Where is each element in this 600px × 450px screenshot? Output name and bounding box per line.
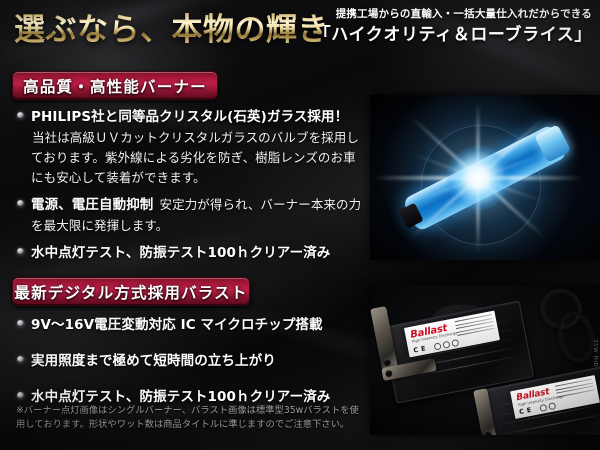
bullet-dot-icon	[17, 200, 24, 207]
ballast-scene: S Ballast High Intensity Disc	[370, 285, 600, 435]
list-item-heading: 水中点灯テスト、防振テスト100ｈクリアー済み	[31, 245, 330, 261]
quality-price-tagline: 「ハイクオリティ＆ローブライス」	[314, 23, 592, 48]
list-item-text: 9V〜16V電圧変動対応 IC マイクロチップ搭載	[31, 314, 365, 335]
section-banner-ballast: 最新デジタル方式採用バラスト	[12, 277, 250, 306]
list-item: 実用照度まで極めて短時間の立ち上がり	[13, 350, 365, 371]
list-item-text: 電源、電圧自動抑制 安定力が得られ、バーナー本来の力を最大限に発揮します。	[31, 194, 365, 235]
certification-marks	[539, 402, 556, 412]
footnote-disclaimer: ※バーナー点灯画像はシングルバーナー、バラスト画像は標準型35wバラストを使用し…	[16, 404, 361, 432]
cert-mark-icon	[548, 402, 556, 410]
list-item: 9V〜16V電圧変動対応 IC マイクロチップ搭載	[13, 314, 365, 335]
list-item-text: 水中点灯テスト、防振テスト100ｈクリアー済み	[31, 242, 365, 263]
cert-mark-icon	[434, 342, 442, 350]
spec-row	[557, 389, 594, 397]
bracket-hole	[383, 358, 391, 366]
bracket-hole	[385, 369, 393, 377]
list-item-heading: PHILIPS社と同等品クリスタル(石英)ガラス採用！	[31, 109, 348, 125]
list-item-heading: 電源、電圧自動抑制	[31, 197, 153, 213]
cert-mark-icon	[442, 341, 450, 349]
heatsink-fin	[498, 413, 600, 435]
ce-mark-icon: C E	[413, 344, 427, 354]
list-item-text: PHILIPS社と同等品クリスタル(石英)ガラス採用！ 当社は高級ＵＶカットクリ…	[31, 106, 365, 187]
list-item-text: 実用照度まで極めて短時間の立ち上がり	[31, 350, 365, 371]
ballast-side-text: 35W HID	[592, 339, 598, 367]
top-right-copy: 提携工場からの直輸入・一括大量仕入れだからできる 「ハイクオリティ＆ローブライス…	[314, 6, 592, 48]
burner-scene	[370, 95, 600, 260]
spec-row	[457, 328, 494, 336]
product-photo-ballast: S Ballast High Intensity Disc	[370, 285, 600, 435]
bullet-dot-icon	[17, 112, 24, 119]
cert-mark-icon	[539, 404, 547, 412]
bracket-hole	[484, 430, 492, 435]
list-item: 水中点灯テスト、防振テスト100ｈクリアー済み	[13, 242, 365, 263]
ce-mark-icon: C E	[518, 406, 532, 416]
bullet-dot-icon	[17, 248, 24, 255]
page-title: 選ぶなら、本物の輝き	[14, 8, 329, 52]
product-photo-burner	[370, 95, 600, 260]
section-banner-burner-label: 高品質・高性能バーナー	[23, 75, 207, 97]
arc-light-core	[446, 146, 510, 210]
ballast-spec-table	[555, 379, 595, 400]
list-item-detail: 当社は高級ＵＶカットクリスタルガラスのバルブを採用しております。紫外線による劣化…	[31, 130, 359, 185]
import-lead-text: 提携工場からの直輸入・一括大量仕入れだからできる	[314, 6, 592, 22]
list-item: PHILIPS社と同等品クリスタル(石英)ガラス採用！ 当社は高級ＵＶカットクリ…	[13, 106, 365, 187]
list-item-heading: 水中点灯テスト、防振テスト100ｈクリアー済み	[31, 389, 330, 405]
list-item-heading: 9V〜16V電圧変動対応 IC マイクロチップ搭載	[31, 317, 323, 333]
list-item: 電源、電圧自動抑制 安定力が得られ、バーナー本来の力を最大限に発揮します。	[13, 194, 365, 235]
burner-feature-list: PHILIPS社と同等品クリスタル(石英)ガラス採用！ 当社は高級ＵＶカットクリ…	[13, 106, 365, 270]
advertisement-canvas: 選ぶなら、本物の輝き 提携工場からの直輸入・一括大量仕入れだからできる 「ハイク…	[0, 0, 600, 450]
section-banner-ballast-label: 最新デジタル方式採用バラスト	[14, 281, 247, 303]
list-item-heading: 実用照度まで極めて短時間の立ち上がり	[31, 353, 276, 369]
bullet-dot-icon	[17, 356, 24, 363]
cert-mark-icon	[451, 339, 459, 347]
ballast-spec-table	[455, 314, 496, 339]
bullet-dot-icon	[17, 392, 24, 399]
bullet-dot-icon	[17, 320, 24, 327]
section-banner-burner: 高品質・高性能バーナー	[12, 71, 218, 100]
